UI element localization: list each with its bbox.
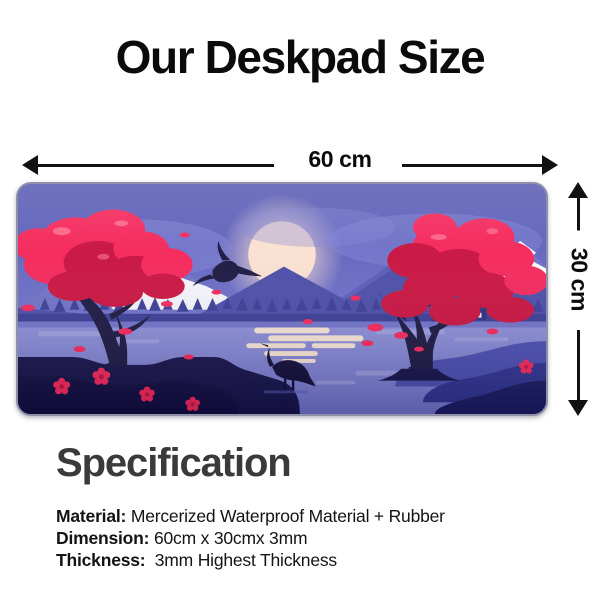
width-dimension-arrow: 60 cm <box>22 152 558 178</box>
spec-value-thickness: 3mm Highest Thickness <box>145 550 337 570</box>
arrow-head-down-icon <box>568 400 588 416</box>
spec-row-dimension: Dimension: 60cm x 30cmx 3mm <box>56 527 566 549</box>
spec-value-dimension: 60cm x 30cmx 3mm <box>149 528 307 548</box>
dimension-line-right <box>402 164 544 167</box>
spec-row-thickness: Thickness: 3mm Highest Thickness <box>56 549 566 571</box>
spec-row-material: Material: Mercerized Waterproof Material… <box>56 505 566 527</box>
height-dimension-label: 30 cm <box>566 231 593 329</box>
spec-label-thickness: Thickness: <box>56 550 145 570</box>
deskpad-surface <box>16 182 548 416</box>
deskpad-product-image <box>16 182 548 416</box>
specification-heading: Specification <box>56 441 291 486</box>
arrow-head-right-icon <box>542 155 558 175</box>
specification-list: Material: Mercerized Waterproof Material… <box>56 505 566 571</box>
spec-label-dimension: Dimension: <box>56 528 149 548</box>
page-title: Our Deskpad Size <box>0 33 600 81</box>
spec-label-material: Material: <box>56 506 126 526</box>
infographic-page: Our Deskpad Size 60 cm 30 cm <box>0 0 600 600</box>
deskpad-artwork <box>18 184 546 414</box>
spec-value-material: Mercerized Waterproof Material + Rubber <box>126 506 445 526</box>
width-dimension-label: 60 cm <box>274 146 406 173</box>
dimension-line-bottom <box>577 330 580 402</box>
dimension-line-left <box>36 164 286 167</box>
height-dimension-arrow: 30 cm <box>566 182 592 416</box>
